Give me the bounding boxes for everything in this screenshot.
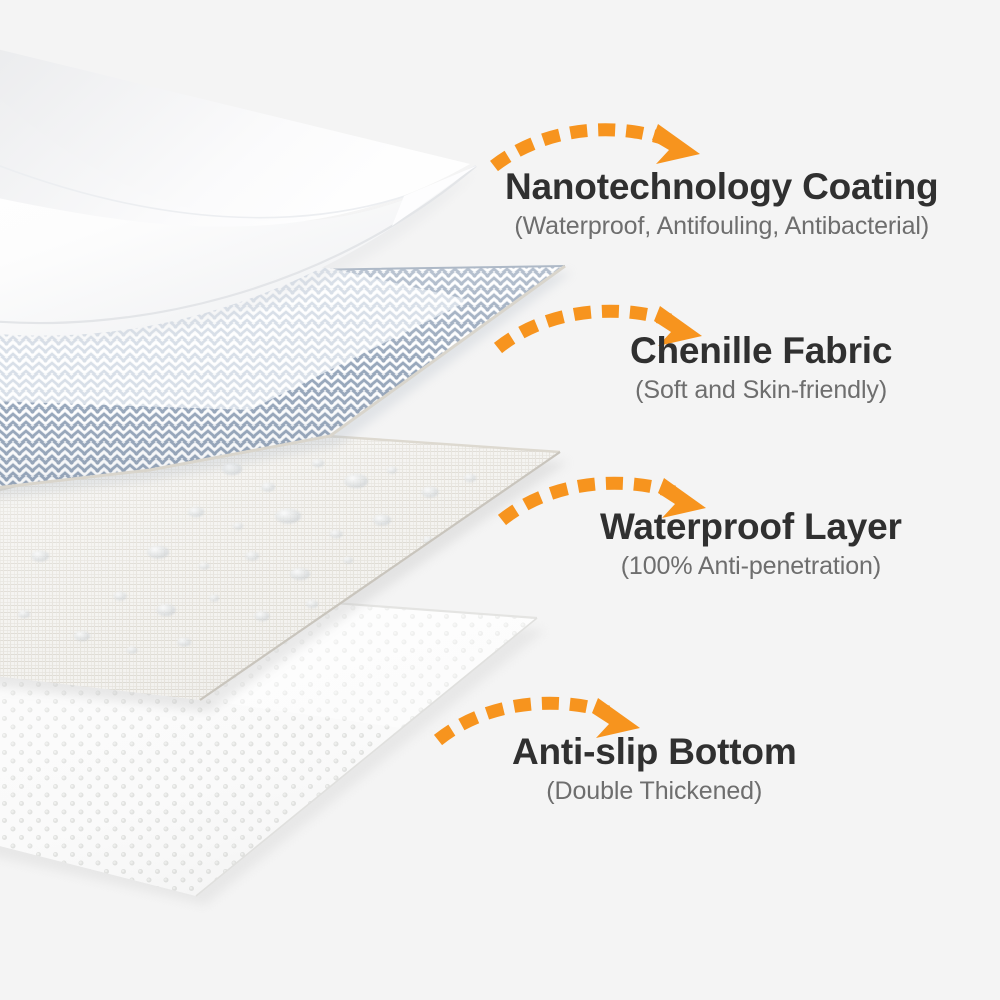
callout-anti-slip-bottom: Anti-slip Bottom (Double Thickened) xyxy=(512,731,797,808)
callout-title: Anti-slip Bottom xyxy=(512,731,797,772)
exploded-layer-stack xyxy=(0,0,1000,1000)
infographic-stage: Nanotechnology Coating (Waterproof, Anti… xyxy=(0,0,1000,1000)
callout-subtitle: (100% Anti-penetration) xyxy=(600,551,902,582)
callout-title: Waterproof Layer xyxy=(600,506,902,547)
callout-chenille-fabric: Chenille Fabric (Soft and Skin-friendly) xyxy=(630,330,892,407)
callout-nanotechnology-coating: Nanotechnology Coating (Waterproof, Anti… xyxy=(505,166,938,243)
callout-subtitle: (Double Thickened) xyxy=(512,776,797,807)
callout-subtitle: (Waterproof, Antifouling, Antibacterial) xyxy=(505,211,938,242)
callout-title: Nanotechnology Coating xyxy=(505,166,938,207)
callout-title: Chenille Fabric xyxy=(630,330,892,371)
callout-subtitle: (Soft and Skin-friendly) xyxy=(630,375,892,406)
callout-waterproof-layer: Waterproof Layer (100% Anti-penetration) xyxy=(600,506,902,583)
